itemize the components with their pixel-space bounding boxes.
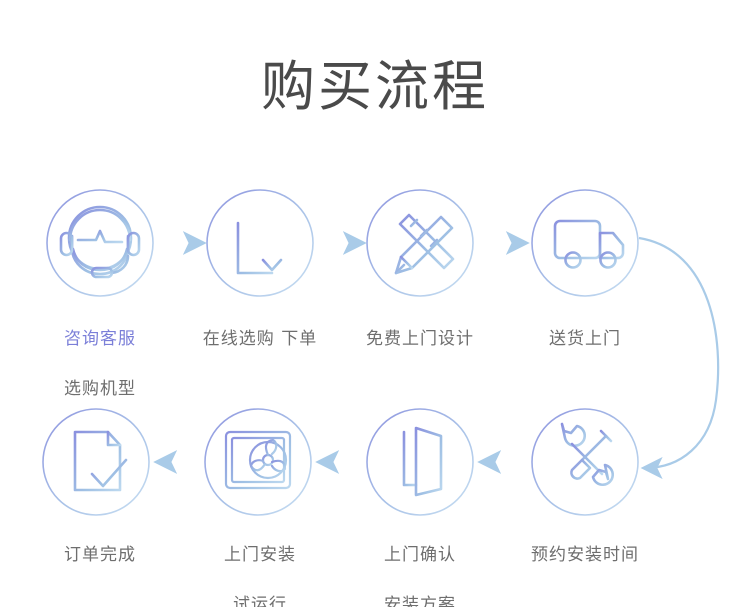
air-conditioner-fan-icon	[226, 432, 290, 488]
step-label-8: 订单完成	[20, 518, 180, 593]
step-circle-7[interactable]	[205, 409, 311, 515]
step-label-6-line-2: 安装方案	[340, 593, 500, 607]
delivery-truck-icon	[555, 221, 623, 268]
step-label-8-line-1: 订单完成	[20, 543, 180, 568]
step-label-5: 预约安装时间	[505, 518, 665, 593]
step-label-3: 免费上门设计	[340, 302, 500, 377]
step-label-1-line-2: 选购机型	[20, 377, 180, 402]
step-label-1: 咨询客服 选购机型	[20, 302, 180, 427]
step-circle-6[interactable]	[367, 409, 473, 515]
step-label-5-line-1: 预约安装时间	[505, 543, 665, 568]
wrench-screwdriver-tools-icon	[562, 424, 613, 485]
step-label-7-line-1: 上门安装	[180, 543, 340, 568]
step-label-6: 上门确认 安装方案	[340, 518, 500, 607]
purchase-flow-infographic: 购买流程	[0, 0, 750, 607]
step-label-7-line-2: 试运行	[180, 593, 340, 607]
step-label-1-line-1: 咨询客服	[20, 327, 180, 352]
step-label-2-line-1: 在线选购 下单	[180, 327, 340, 352]
open-door-icon	[404, 428, 441, 495]
step-label-6-line-1: 上门确认	[340, 543, 500, 568]
step-label-4-line-1: 送货上门	[505, 327, 665, 352]
step-label-3-line-1: 免费上门设计	[340, 327, 500, 352]
step-label-7: 上门安装 试运行	[180, 518, 340, 607]
step-circle-2[interactable]	[207, 190, 313, 296]
document-check-complete-icon	[75, 432, 126, 490]
step-label-4: 送货上门	[505, 302, 665, 377]
step-label-2: 在线选购 下单	[180, 302, 340, 377]
headset-support-icon	[61, 207, 139, 277]
pencil-ruler-design-icon	[396, 215, 453, 273]
order-document-download-icon	[238, 216, 282, 273]
